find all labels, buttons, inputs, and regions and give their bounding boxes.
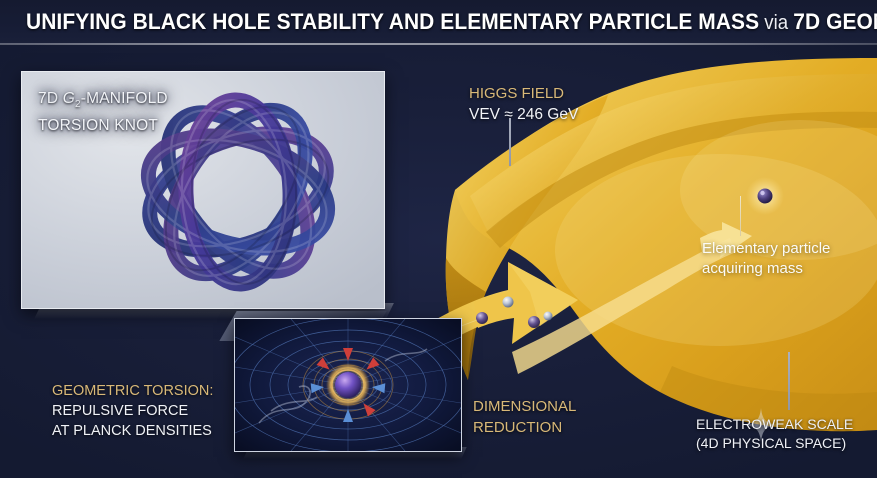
spacetime-funnel-figure [235,319,461,451]
dimred-label-line2: REDUCTION [473,417,576,438]
higgs-label-line2: VEV ≈ 246 GeV [469,104,578,125]
particle-leader-line [740,196,741,236]
title-via: via [759,12,793,34]
ew-label-line2: (4D PHYSICAL SPACE) [696,434,853,453]
title-main-part2: 7D GEOMETRY [793,9,877,34]
electroweak-leader-line [788,352,790,410]
ew-label-line1: ELECTROWEAK SCALE [696,415,853,434]
torsion-label-line2: REPULSIVE FORCE [52,401,213,421]
elementary-particle-label: Elementary particle acquiring mass [702,239,830,279]
knot-label-suffix: -MANIFOLD [81,90,168,107]
particle-label-line2: acquiring mass [702,259,830,279]
knot-label-prefix: 7D [38,90,63,107]
higgs-field-label: HIGGS FIELD VEV ≈ 246 GeV [469,83,578,125]
title-main-part1: UNIFYING BLACK HOLE STABILITY AND ELEMEN… [26,9,759,34]
knot-panel-label: 7D G2-MANIFOLD TORSION KNOT [38,88,168,136]
torsion-label-line3: AT PLANCK DENSITIES [52,421,213,441]
elementary-particle [746,177,784,215]
knot-label-line2: TORSION KNOT [38,115,168,136]
blackhole-panel [234,318,462,452]
geometric-torsion-label: GEOMETRIC TORSION: REPULSIVE FORCE AT PL… [52,381,213,441]
particle-label-line1: Elementary particle [702,239,830,259]
knot-panel: 7D G2-MANIFOLD TORSION KNOT [21,71,385,309]
dimensional-reduction-label: DIMENSIONAL REDUCTION [473,396,576,438]
knot-label-symbol: G [63,90,75,107]
dimred-label-line1: DIMENSIONAL [473,396,576,417]
electroweak-scale-label: ELECTROWEAK SCALE (4D PHYSICAL SPACE) [696,415,853,453]
higgs-leader-line [509,118,511,166]
infographic-canvas: UNIFYING BLACK HOLE STABILITY AND ELEMEN… [0,0,877,478]
higgs-label-line1: HIGGS FIELD [469,83,578,104]
page-title: UNIFYING BLACK HOLE STABILITY AND ELEMEN… [26,9,877,35]
torsion-label-line1: GEOMETRIC TORSION: [52,381,213,401]
title-underline [0,43,877,45]
